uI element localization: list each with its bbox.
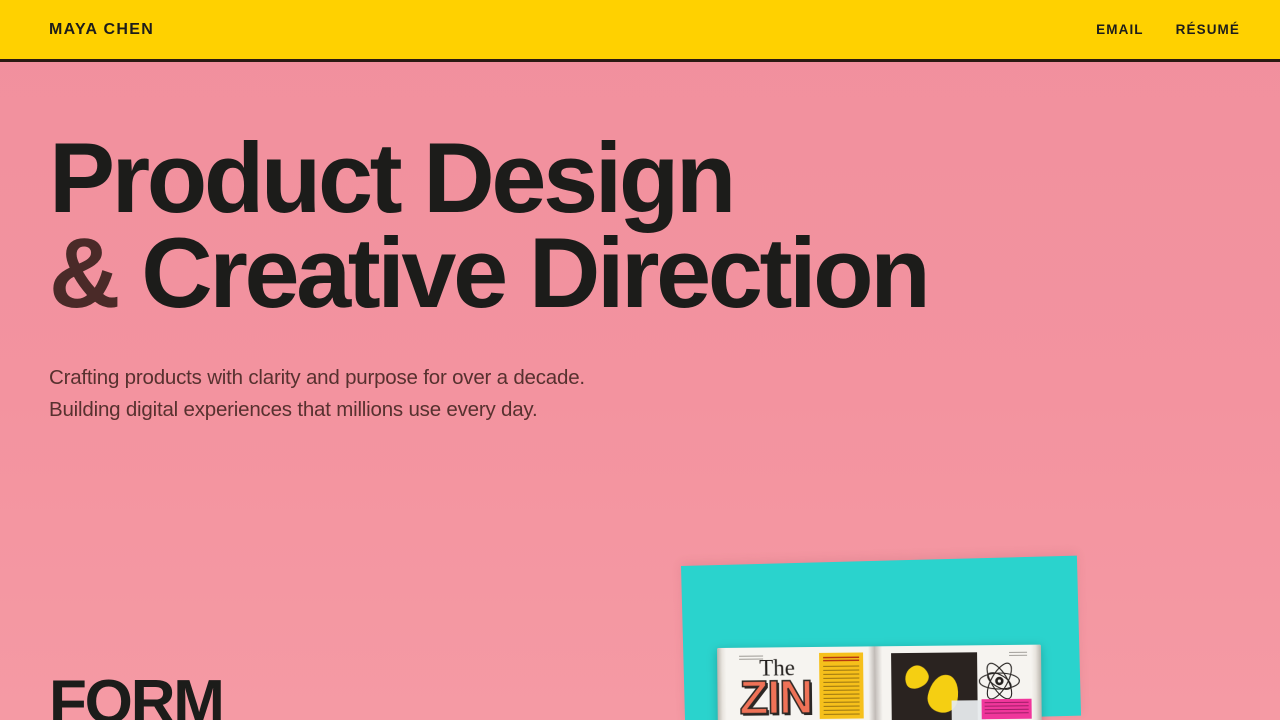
yellow-pear-shape-small xyxy=(901,662,932,692)
sidebar-headline-lines xyxy=(823,657,859,663)
pink-sticky-note xyxy=(982,699,1032,720)
primary-nav: EMAIL RÉSUMÉ xyxy=(1096,22,1240,37)
yellow-sidebar-column xyxy=(819,652,864,718)
hero-title-line-1: Product Design xyxy=(49,130,1280,225)
magazine-right-page xyxy=(875,645,1042,720)
sticky-note-text-lines xyxy=(985,702,1029,716)
folio-text-lines xyxy=(1009,652,1027,656)
magazine-photo: The ZIN xyxy=(681,566,1077,720)
ampersand-glyph: & xyxy=(49,217,117,328)
zine-title-word: ZIN xyxy=(739,673,812,720)
site-header: MAYA CHEN EMAIL RÉSUMÉ xyxy=(0,0,1280,62)
hero-title-line-2-text: Creative Direction xyxy=(141,217,927,328)
portfolio-landing-page: MAYA CHEN EMAIL RÉSUMÉ Product Design & … xyxy=(0,0,1280,720)
sidebar-body-lines xyxy=(823,666,860,716)
open-magazine-spread: The ZIN xyxy=(717,645,1042,720)
section-heading-form: FORM xyxy=(49,672,223,720)
brand-wordmark[interactable]: MAYA CHEN xyxy=(49,21,154,39)
page-title: Product Design & Creative Direction xyxy=(49,130,1280,320)
hero-subtitle-line-2: Building digital experiences that millio… xyxy=(49,398,537,421)
nav-link-resume[interactable]: RÉSUMÉ xyxy=(1176,22,1240,37)
magazine-left-page: The ZIN xyxy=(717,646,876,720)
hero-subtitle: Crafting products with clarity and purpo… xyxy=(49,362,1280,427)
hero-section: Product Design & Creative Direction Craf… xyxy=(0,62,1280,427)
atom-diagram-icon xyxy=(977,661,1021,701)
hero-title-line-2: & Creative Direction xyxy=(49,225,1280,320)
nav-link-email[interactable]: EMAIL xyxy=(1096,22,1144,37)
hero-subtitle-line-1: Crafting products with clarity and purpo… xyxy=(49,366,585,389)
